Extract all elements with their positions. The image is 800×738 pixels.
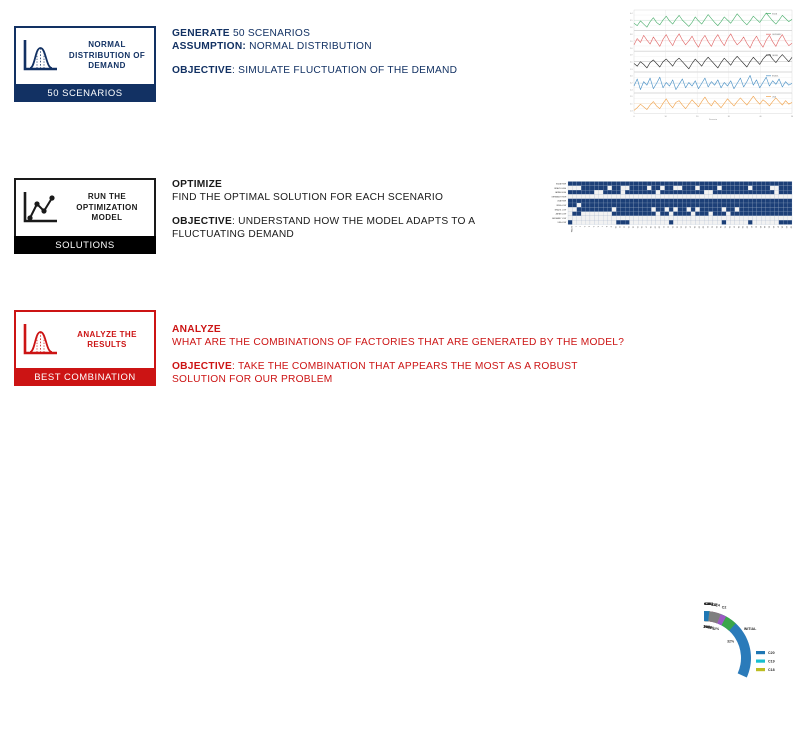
card-footer-badge: 50 SCENARIOS <box>14 84 156 102</box>
svg-text:28: 28 <box>693 226 695 228</box>
svg-text:GERMANY HIGH: GERMANY HIGH <box>551 195 566 198</box>
svg-text:INITIAL: INITIAL <box>570 226 573 232</box>
card-analyze-results[interactable]: ANALYZE THE RESULTS BEST COMBINATION <box>14 310 156 386</box>
svg-text:Scenario: Scenario <box>709 119 718 121</box>
svg-text:3: 3 <box>583 226 585 227</box>
card-title: NORMAL DISTRIBUTION OF DEMAND <box>63 40 154 72</box>
card-footer-badge: SOLUTIONS <box>14 236 156 254</box>
svg-text:USA HIGH: USA HIGH <box>557 200 567 203</box>
svg-text:INITIAL: INITIAL <box>744 627 757 631</box>
step-description: ANALYZE WHAT ARE THE COMBINATIONS OF FAC… <box>172 323 632 386</box>
svg-text:12: 12 <box>623 226 625 228</box>
svg-text:34: 34 <box>719 226 721 228</box>
svg-text:27: 27 <box>688 226 690 228</box>
svg-text:38: 38 <box>737 226 739 228</box>
svg-text:10: 10 <box>665 116 667 118</box>
svg-text:INDIA LOW: INDIA LOW <box>556 204 566 207</box>
svg-text:4.4: 4.4 <box>630 13 632 15</box>
svg-text:49: 49 <box>785 226 787 228</box>
description-line: ANALYZE <box>172 323 632 336</box>
card-title: ANALYZE THE RESULTS <box>63 330 154 351</box>
svg-text:40: 40 <box>759 116 761 118</box>
svg-text:25: 25 <box>680 226 682 228</box>
svg-text:46: 46 <box>772 226 774 228</box>
card-run-optimization-model[interactable]: RUN THE OPTIMIZATION MODEL SOLUTIONS <box>14 178 156 254</box>
svg-text:2.9: 2.9 <box>630 41 632 43</box>
multi-panel-timeseries-chart: 4.43.52.6INDIA3.82.92.0GERMANY2.92.11.3J… <box>612 8 794 116</box>
combination-frequency-donut-chart: 32%INITIAL4%C112%C22%C38%C44%C56%C62%C72… <box>628 588 794 738</box>
step-run-optimization-model: RUN THE OPTIMIZATION MODEL SOLUTIONS OPT… <box>0 150 800 300</box>
card-footer-badge: BEST COMBINATION <box>14 368 156 386</box>
svg-text:50: 50 <box>791 116 793 118</box>
svg-text:42: 42 <box>754 226 756 228</box>
svg-text:31: 31 <box>706 226 708 228</box>
svg-text:JAPAN HIGH: JAPAN HIGH <box>555 191 567 194</box>
svg-text:11: 11 <box>618 226 620 228</box>
svg-text:26: 26 <box>684 226 686 228</box>
svg-text:21: 21 <box>662 226 664 228</box>
svg-text:36: 36 <box>728 226 730 228</box>
svg-text:37: 37 <box>732 226 734 228</box>
normal-distribution-curve-icon <box>19 34 63 78</box>
svg-text:48: 48 <box>781 226 783 228</box>
svg-text:50: 50 <box>790 226 792 228</box>
svg-text:4: 4 <box>587 226 589 227</box>
svg-text:45: 45 <box>768 226 770 228</box>
svg-text:9: 9 <box>609 226 611 227</box>
svg-text:29: 29 <box>697 226 699 228</box>
svg-text:19: 19 <box>653 226 655 228</box>
step-description: OPTIMIZE FIND THE OPTIMAL SOLUTION FOR E… <box>172 178 502 241</box>
svg-text:6: 6 <box>596 226 598 227</box>
description-line: ASSUMPTION: NORMAL DISTRIBUTION <box>172 40 602 53</box>
svg-text:20: 20 <box>696 116 698 118</box>
svg-text:20: 20 <box>658 226 660 228</box>
svg-text:15: 15 <box>636 226 638 228</box>
svg-text:32: 32 <box>710 226 712 228</box>
description-line: WHAT ARE THE COMBINATIONS OF FACTORIES T… <box>172 336 632 349</box>
svg-text:44: 44 <box>763 226 765 228</box>
step-analyze-results: ANALYZE THE RESULTS BEST COMBINATION ANA… <box>0 300 800 450</box>
objective-line: OBJECTIVE: TAKE THE COMBINATION THAT APP… <box>172 360 632 386</box>
svg-text:2.4: 2.4 <box>630 90 632 92</box>
svg-text:GERMANY: GERMANY <box>772 33 782 36</box>
svg-text:35: 35 <box>724 226 726 228</box>
svg-text:2.1: 2.1 <box>630 62 632 64</box>
svg-text:39: 39 <box>741 226 743 228</box>
svg-text:JAPAN: JAPAN <box>772 54 779 57</box>
svg-text:INDIA HIGH: INDIA HIGH <box>556 182 567 185</box>
svg-text:2.0: 2.0 <box>630 48 632 50</box>
svg-text:24: 24 <box>675 226 677 228</box>
card-normal-distribution[interactable]: NORMAL DISTRIBUTION OF DEMAND 50 SCENARI… <box>14 26 156 102</box>
card-header: ANALYZE THE RESULTS <box>14 310 156 368</box>
svg-text:32%: 32% <box>727 639 735 643</box>
card-header: NORMAL DISTRIBUTION OF DEMAND <box>14 26 156 84</box>
svg-text:30: 30 <box>702 226 704 228</box>
description-line: GENERATE 50 SCENARIOS <box>172 27 602 40</box>
svg-text:2.1: 2.1 <box>630 103 632 105</box>
svg-text:30: 30 <box>728 116 730 118</box>
svg-text:2.9: 2.9 <box>630 96 632 98</box>
svg-text:USA LOW: USA LOW <box>558 221 567 224</box>
svg-text:2.6: 2.6 <box>630 27 632 29</box>
svg-text:10: 10 <box>614 226 616 228</box>
svg-text:5: 5 <box>592 226 594 227</box>
svg-text:1.3: 1.3 <box>630 110 632 112</box>
svg-text:3.2: 3.2 <box>630 83 632 85</box>
description-line: OPTIMIZE <box>172 178 502 191</box>
svg-text:JAPAN LOW: JAPAN LOW <box>555 213 566 216</box>
svg-text:40: 40 <box>746 226 748 228</box>
svg-text:C19: C19 <box>768 660 775 664</box>
card-header: RUN THE OPTIMIZATION MODEL <box>14 178 156 236</box>
normal-distribution-curve-icon <box>19 318 63 362</box>
svg-text:17: 17 <box>645 226 647 228</box>
line-chart-with-markers-icon <box>19 186 63 230</box>
binary-solution-heatmap: INDIA HIGHBRAZIL HIGHJAPAN HIGHGERMANY H… <box>528 180 794 242</box>
svg-text:13: 13 <box>627 226 629 228</box>
svg-text:47: 47 <box>776 226 778 228</box>
svg-text:16: 16 <box>640 226 642 228</box>
svg-text:GERMANY LOW: GERMANY LOW <box>552 217 567 220</box>
svg-text:C20: C20 <box>768 651 775 655</box>
svg-text:2: 2 <box>579 226 581 227</box>
description-line: FIND THE OPTIMAL SOLUTION FOR EACH SCENA… <box>172 191 502 204</box>
svg-text:3.8: 3.8 <box>630 34 632 36</box>
svg-text:23: 23 <box>671 226 673 228</box>
svg-text:14: 14 <box>631 226 633 228</box>
svg-text:0: 0 <box>633 116 634 118</box>
svg-text:22: 22 <box>667 226 669 228</box>
svg-text:1: 1 <box>574 226 576 227</box>
svg-text:BRAZIL: BRAZIL <box>772 75 779 78</box>
svg-text:1.3: 1.3 <box>630 69 632 71</box>
svg-text:C20: C20 <box>704 602 711 606</box>
svg-text:C17: C17 <box>711 603 718 607</box>
svg-text:8: 8 <box>605 226 607 227</box>
svg-text:4.0: 4.0 <box>630 75 632 77</box>
svg-text:C18: C18 <box>768 668 775 672</box>
svg-text:3.5: 3.5 <box>630 20 632 22</box>
step-normal-distribution: NORMAL DISTRIBUTION OF DEMAND 50 SCENARI… <box>0 0 800 150</box>
objective-line: OBJECTIVE: SIMULATE FLUCTUATION OF THE D… <box>172 64 602 77</box>
svg-text:41: 41 <box>750 226 752 228</box>
svg-text:BRAZIL HIGH: BRAZIL HIGH <box>554 187 566 190</box>
step-description: GENERATE 50 SCENARIOS ASSUMPTION: NORMAL… <box>172 27 602 77</box>
svg-text:33: 33 <box>715 226 717 228</box>
svg-text:43: 43 <box>759 226 761 228</box>
card-title: RUN THE OPTIMIZATION MODEL <box>63 192 154 224</box>
svg-text:INDIA: INDIA <box>772 12 778 15</box>
svg-text:18: 18 <box>649 226 651 228</box>
svg-text:BRAZIL LOW: BRAZIL LOW <box>555 208 567 211</box>
objective-line: OBJECTIVE: UNDERSTAND HOW THE MODEL ADAP… <box>172 215 502 241</box>
svg-text:7: 7 <box>601 226 603 227</box>
svg-text:C2: C2 <box>722 606 727 610</box>
svg-text:2.9: 2.9 <box>630 55 632 57</box>
